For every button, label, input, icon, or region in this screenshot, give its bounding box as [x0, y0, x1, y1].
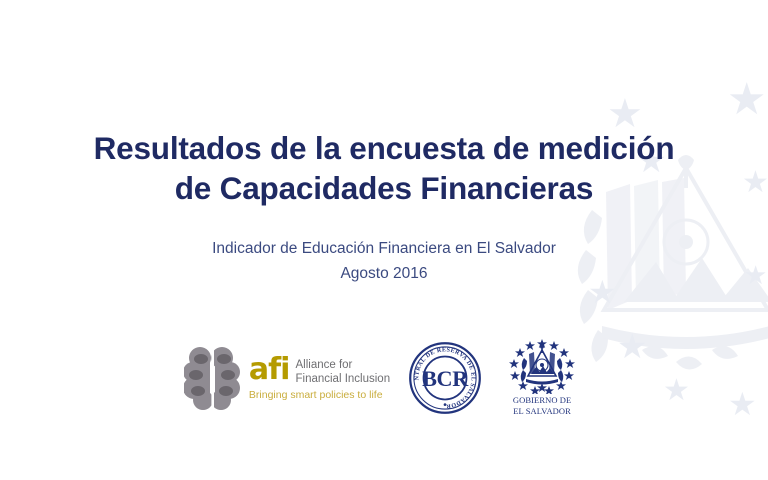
- slide-content: Resultados de la encuesta de medición de…: [0, 0, 768, 480]
- title-line-1: Resultados de la encuesta de medición: [0, 128, 768, 168]
- gobierno-el-salvador-logo: GOBIERNO DE EL SALVADOR: [500, 338, 584, 418]
- gobierno-text-line-2: EL SALVADOR: [513, 406, 571, 417]
- afi-wordmark: afi: [249, 356, 290, 384]
- afi-brain-mark-icon: [184, 346, 242, 410]
- afi-name-line-2: Financial Inclusion: [295, 372, 390, 386]
- afi-name-line-1: Alliance for: [295, 358, 390, 372]
- presentation-slide: ★ ★ ★ ★ ★ ★ ★ ★ ★ Resultados de la encue…: [0, 0, 768, 480]
- gobierno-text-line-1: GOBIERNO DE: [513, 395, 571, 406]
- bcr-seal-icon: BANCO CENTRAL DE RESERVA DE EL SALVADOR …: [408, 341, 482, 415]
- subtitle-line-2: Agosto 2016: [0, 261, 768, 286]
- bcr-center-text: BCR: [422, 366, 469, 391]
- page-subtitle: Indicador de Educación Financiera en El …: [0, 236, 768, 286]
- page-title: Resultados de la encuesta de medición de…: [0, 128, 768, 209]
- logo-row: afi Alliance for Financial Inclusion Bri…: [0, 332, 768, 424]
- afi-name-lines: Alliance for Financial Inclusion: [295, 356, 390, 387]
- afi-slogan: Bringing smart policies to life: [249, 389, 390, 402]
- afi-topline: afi Alliance for Financial Inclusion: [249, 356, 390, 387]
- afi-logo: afi Alliance for Financial Inclusion Bri…: [184, 343, 390, 413]
- el-salvador-coat-of-arms-icon: [502, 338, 582, 394]
- subtitle-line-1: Indicador de Educación Financiera en El …: [0, 236, 768, 261]
- afi-text-block: afi Alliance for Financial Inclusion Bri…: [249, 354, 390, 402]
- gobierno-text: GOBIERNO DE EL SALVADOR: [513, 395, 571, 416]
- title-line-2: de Capacidades Financieras: [0, 168, 768, 208]
